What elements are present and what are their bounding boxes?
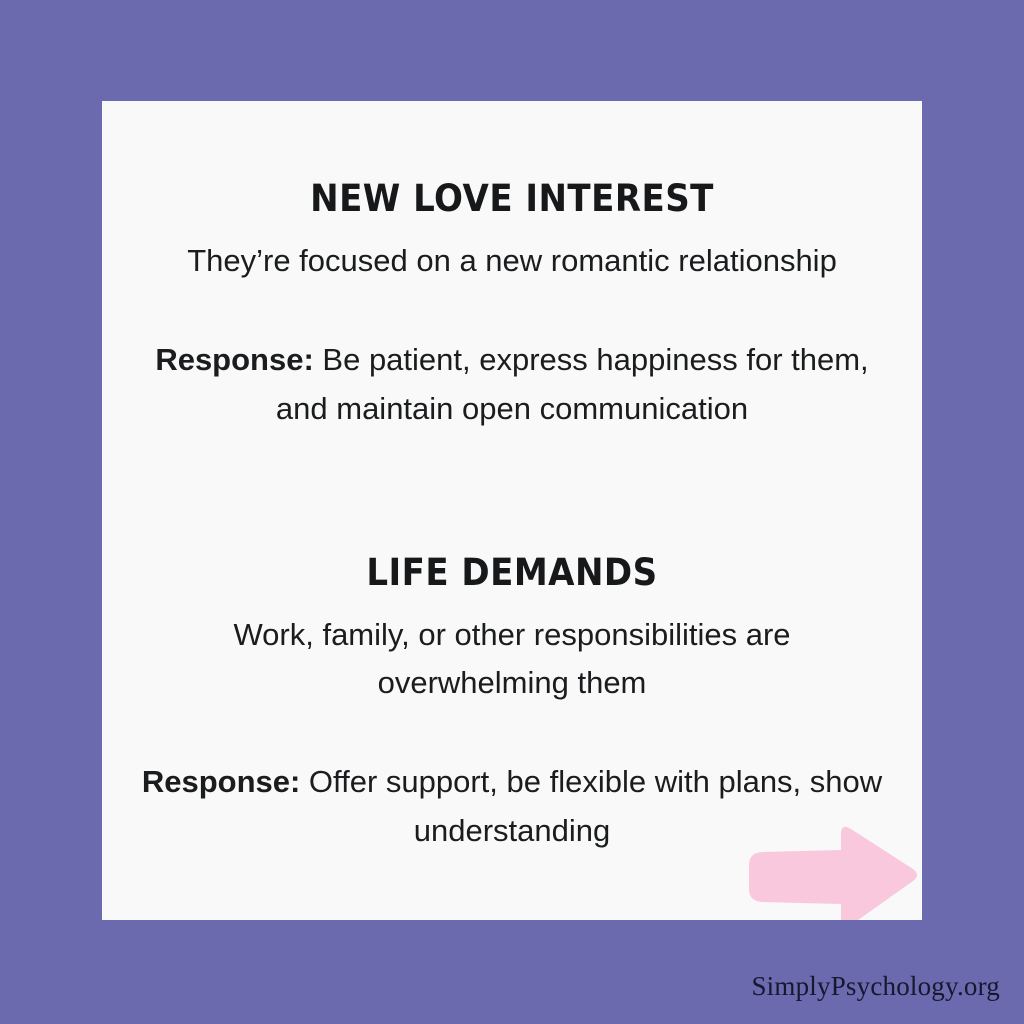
response-text-new-love-interest: Be patient, express happiness for them, … bbox=[276, 342, 869, 426]
response-label-new-love-interest: Response: bbox=[155, 342, 313, 377]
card-inner: NEW LOVE INTEREST They’re focused on a n… bbox=[102, 101, 922, 920]
section-new-love-interest: NEW LOVE INTEREST They’re focused on a n… bbox=[132, 177, 892, 433]
section-description-new-love-interest: They’re focused on a new romantic relati… bbox=[132, 237, 892, 285]
section-heading-life-demands: LIFE DEMANDS bbox=[162, 551, 861, 595]
section-response-new-love-interest: Response: Be patient, express happiness … bbox=[132, 335, 892, 433]
content-card: NEW LOVE INTEREST They’re focused on a n… bbox=[102, 101, 922, 920]
response-label-life-demands: Response: bbox=[142, 764, 300, 799]
section-description-life-demands: Work, family, or other responsibilities … bbox=[132, 611, 892, 707]
poster-canvas: NEW LOVE INTEREST They’re focused on a n… bbox=[0, 0, 1024, 1024]
watermark-simplypsychology: SimplyPsychology.org bbox=[751, 970, 1000, 1002]
section-heading-new-love-interest: NEW LOVE INTEREST bbox=[162, 177, 861, 221]
section-life-demands: LIFE DEMANDS Work, family, or other resp… bbox=[132, 551, 892, 855]
right-arrow-icon bbox=[745, 825, 920, 920]
